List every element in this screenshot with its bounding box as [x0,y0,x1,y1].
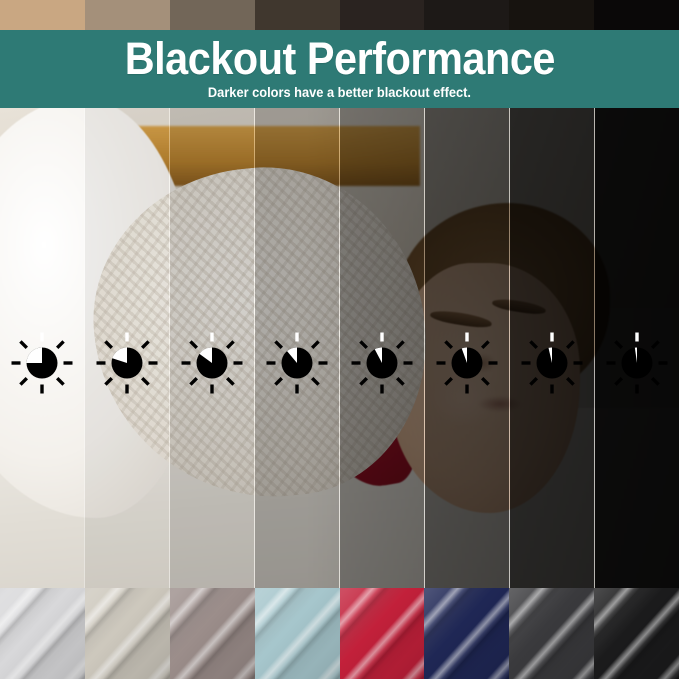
page-title: Blackout Performance [124,33,554,85]
blackout-column [255,108,340,588]
fabric-swatch [424,588,509,679]
swatch-gloss [424,588,509,679]
page-subtitle: Darker colors have a better blackout eff… [208,85,471,101]
swatch-gloss [340,588,425,679]
column-shade [595,108,679,588]
fabric-swatch [170,588,255,679]
column-shade [425,108,509,588]
blackout-column [0,108,85,588]
banner: Blackout Performance Darker colors have … [0,30,679,108]
swatch-gloss [509,588,594,679]
fabric-swatch [340,588,425,679]
column-shade [340,108,424,588]
blackout-column-group [0,108,679,588]
color-gradient-strip [0,0,679,30]
color-band [170,0,255,30]
color-band [255,0,340,30]
column-shade [170,108,254,588]
swatch-gloss [170,588,255,679]
blackout-column [595,108,679,588]
infographic-canvas: Blackout Performance Darker colors have … [0,0,679,679]
swatch-gloss [85,588,170,679]
swatch-gloss [594,588,679,679]
blackout-column [85,108,170,588]
column-shade [85,108,169,588]
blackout-column [170,108,255,588]
fabric-swatch-row [0,588,679,679]
color-band [424,0,509,30]
color-band [0,0,85,30]
blackout-column [340,108,425,588]
color-band [85,0,170,30]
column-shade [510,108,594,588]
fabric-swatch [255,588,340,679]
color-band [340,0,425,30]
color-band [594,0,679,30]
column-shade [255,108,339,588]
color-band [509,0,594,30]
column-shade [0,108,84,588]
photo-panel [0,108,679,588]
fabric-swatch [85,588,170,679]
blackout-column [425,108,510,588]
blackout-column [510,108,595,588]
fabric-swatch [0,588,85,679]
swatch-gloss [255,588,340,679]
fabric-swatch [594,588,679,679]
swatch-gloss [0,588,85,679]
fabric-swatch [509,588,594,679]
